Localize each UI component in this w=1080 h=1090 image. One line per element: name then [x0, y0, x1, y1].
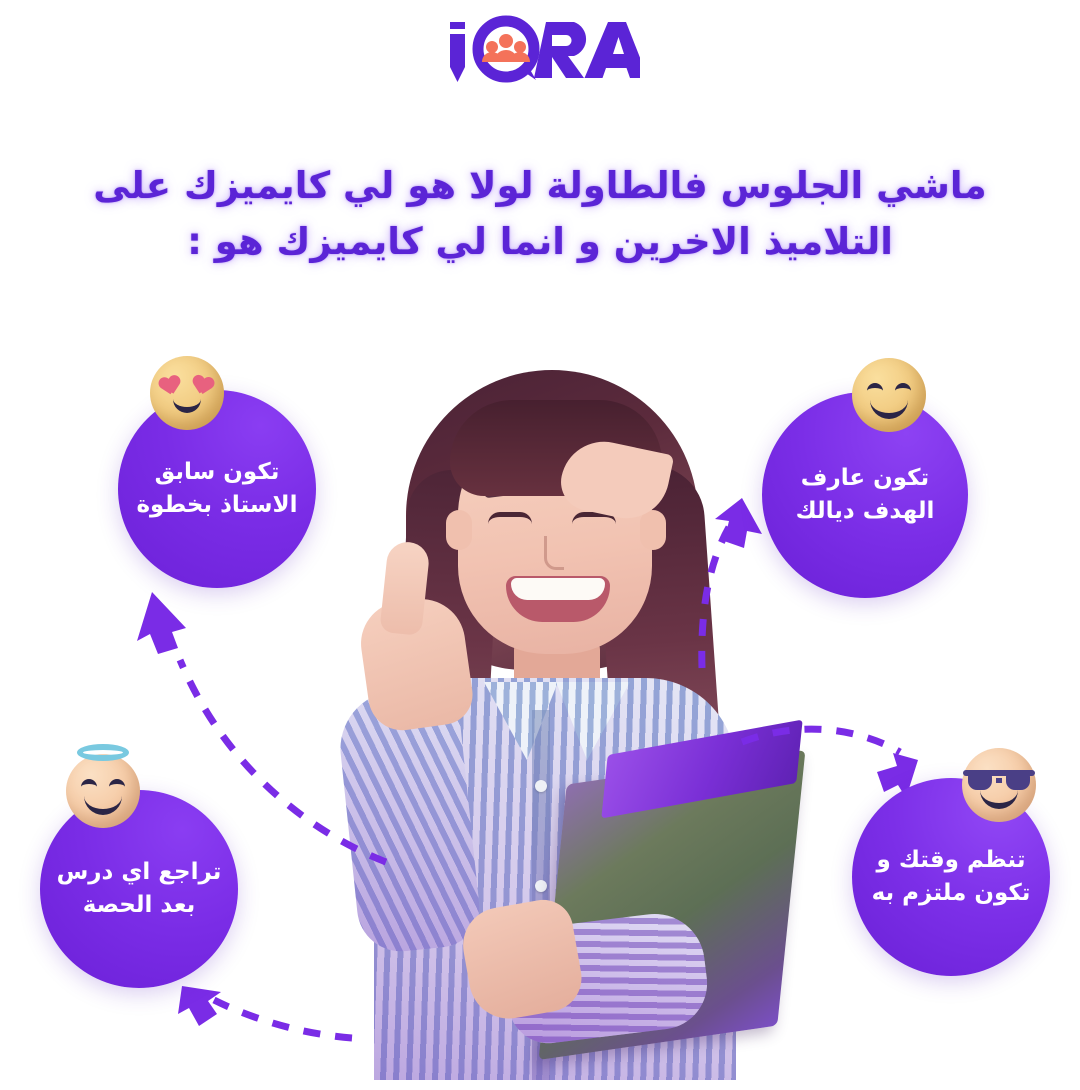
- page-title: ماشي الجلوس فالطاولة لولا هو لي كايميزك …: [60, 158, 1020, 270]
- sunglasses-emoji: [962, 748, 1036, 822]
- brand-logo[interactable]: [0, 14, 1080, 86]
- logo-mark: [440, 14, 640, 86]
- benefit-bubble-bottom-left[interactable]: تراجع اي درس بعد الحصة: [40, 790, 238, 988]
- benefit-bubble-top-left-text: تكون سابق الاستاذ بخطوة: [120, 456, 313, 523]
- smiling-face-emoji: [852, 358, 926, 432]
- pencil-icon: [450, 22, 465, 82]
- benefit-bubble-top-left[interactable]: تكون سابق الاستاذ بخطوة: [118, 390, 316, 588]
- benefit-bubble-bottom-right-text: تنظم وقتك و تكون ملتزم به: [856, 844, 1047, 911]
- benefit-bubble-bottom-left-text: تراجع اي درس بعد الحصة: [41, 856, 238, 923]
- logo-letter-a: [585, 22, 641, 78]
- smiling-student-thumbs-up-photo: [318, 360, 778, 1080]
- heart-eyes-emoji: [150, 356, 224, 430]
- halo-angel-emoji: [66, 754, 140, 828]
- benefit-bubble-top-right-text: تكون عارف الهدف ديالك: [780, 462, 951, 529]
- magnifier-people-icon: [478, 21, 536, 80]
- logo-letter-r: [534, 22, 586, 78]
